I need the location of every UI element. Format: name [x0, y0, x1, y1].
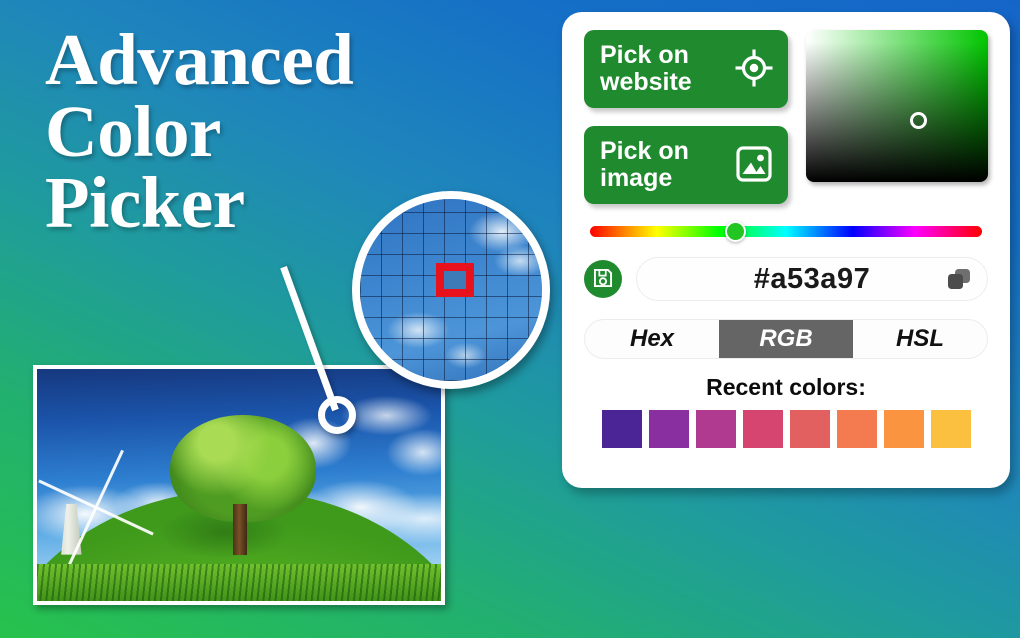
pick-on-image-button[interactable]: Pick on image: [584, 126, 788, 204]
save-color-button[interactable]: [584, 260, 622, 298]
recent-color-swatch[interactable]: [790, 410, 830, 448]
pick-on-image-label-line1: Pick on: [600, 137, 689, 165]
photo-tree-trunk: [233, 504, 247, 555]
headline-line-b: Color: [45, 96, 353, 168]
color-picker-panel: Pick on website Pick on: [562, 12, 1010, 488]
hex-input-field[interactable]: #a53a97: [636, 257, 988, 301]
tab-rgb[interactable]: RGB: [719, 320, 853, 358]
hex-input-value: #a53a97: [754, 263, 870, 296]
pick-buttons-column: Pick on website Pick on: [584, 30, 788, 204]
pick-on-image-label-line2: image: [600, 164, 672, 192]
pick-on-website-label-line1: Pick on: [600, 41, 689, 69]
recent-color-swatch[interactable]: [696, 410, 736, 448]
source-image-thumbnail[interactable]: [33, 365, 445, 605]
hue-slider-thumb[interactable]: [725, 221, 746, 242]
recent-colors-swatches: [584, 410, 988, 448]
hex-value-row: #a53a97: [584, 257, 988, 301]
floppy-disk-save-icon: [592, 267, 614, 292]
photo-windmill-blades: [71, 492, 119, 520]
photo-foreground-grass: [37, 564, 441, 601]
headline-line-a: Advanced: [45, 24, 353, 96]
recent-color-swatch[interactable]: [602, 410, 642, 448]
recent-color-swatch[interactable]: [931, 410, 971, 448]
recent-color-swatch[interactable]: [837, 410, 877, 448]
recent-color-swatch[interactable]: [649, 410, 689, 448]
pick-on-website-label: Pick on website: [600, 42, 692, 96]
recent-color-swatch[interactable]: [884, 410, 924, 448]
sv-selector-dot[interactable]: [910, 112, 927, 129]
magnifier-selected-pixel: [436, 263, 474, 297]
copy-icon: [945, 282, 975, 297]
copy-hex-button[interactable]: [945, 266, 975, 294]
pick-on-website-label-line2: website: [600, 68, 692, 96]
headline-line-c: Picker: [45, 167, 353, 239]
magnified-sky-pixel-grid: [352, 191, 550, 389]
panel-top-row: Pick on website Pick on: [584, 30, 988, 204]
format-tabs: Hex RGB HSL: [584, 319, 988, 359]
recent-colors-label: Recent colors:: [584, 374, 988, 401]
crosshair-target-icon: [734, 48, 774, 91]
pick-on-image-label: Pick on image: [600, 138, 689, 192]
page-title: Advanced Color Picker: [45, 24, 353, 239]
tree-on-hill-photo: [37, 369, 441, 601]
tab-hsl[interactable]: HSL: [853, 320, 987, 358]
hue-slider[interactable]: [590, 226, 982, 237]
pick-on-website-button[interactable]: Pick on website: [584, 30, 788, 108]
hue-slider-row: [584, 226, 988, 237]
saturation-value-square[interactable]: [806, 30, 988, 182]
recent-color-swatch[interactable]: [743, 410, 783, 448]
magnifier-handle-ring: [318, 396, 356, 434]
image-photo-icon: [734, 144, 774, 187]
tab-hex[interactable]: Hex: [585, 320, 719, 358]
